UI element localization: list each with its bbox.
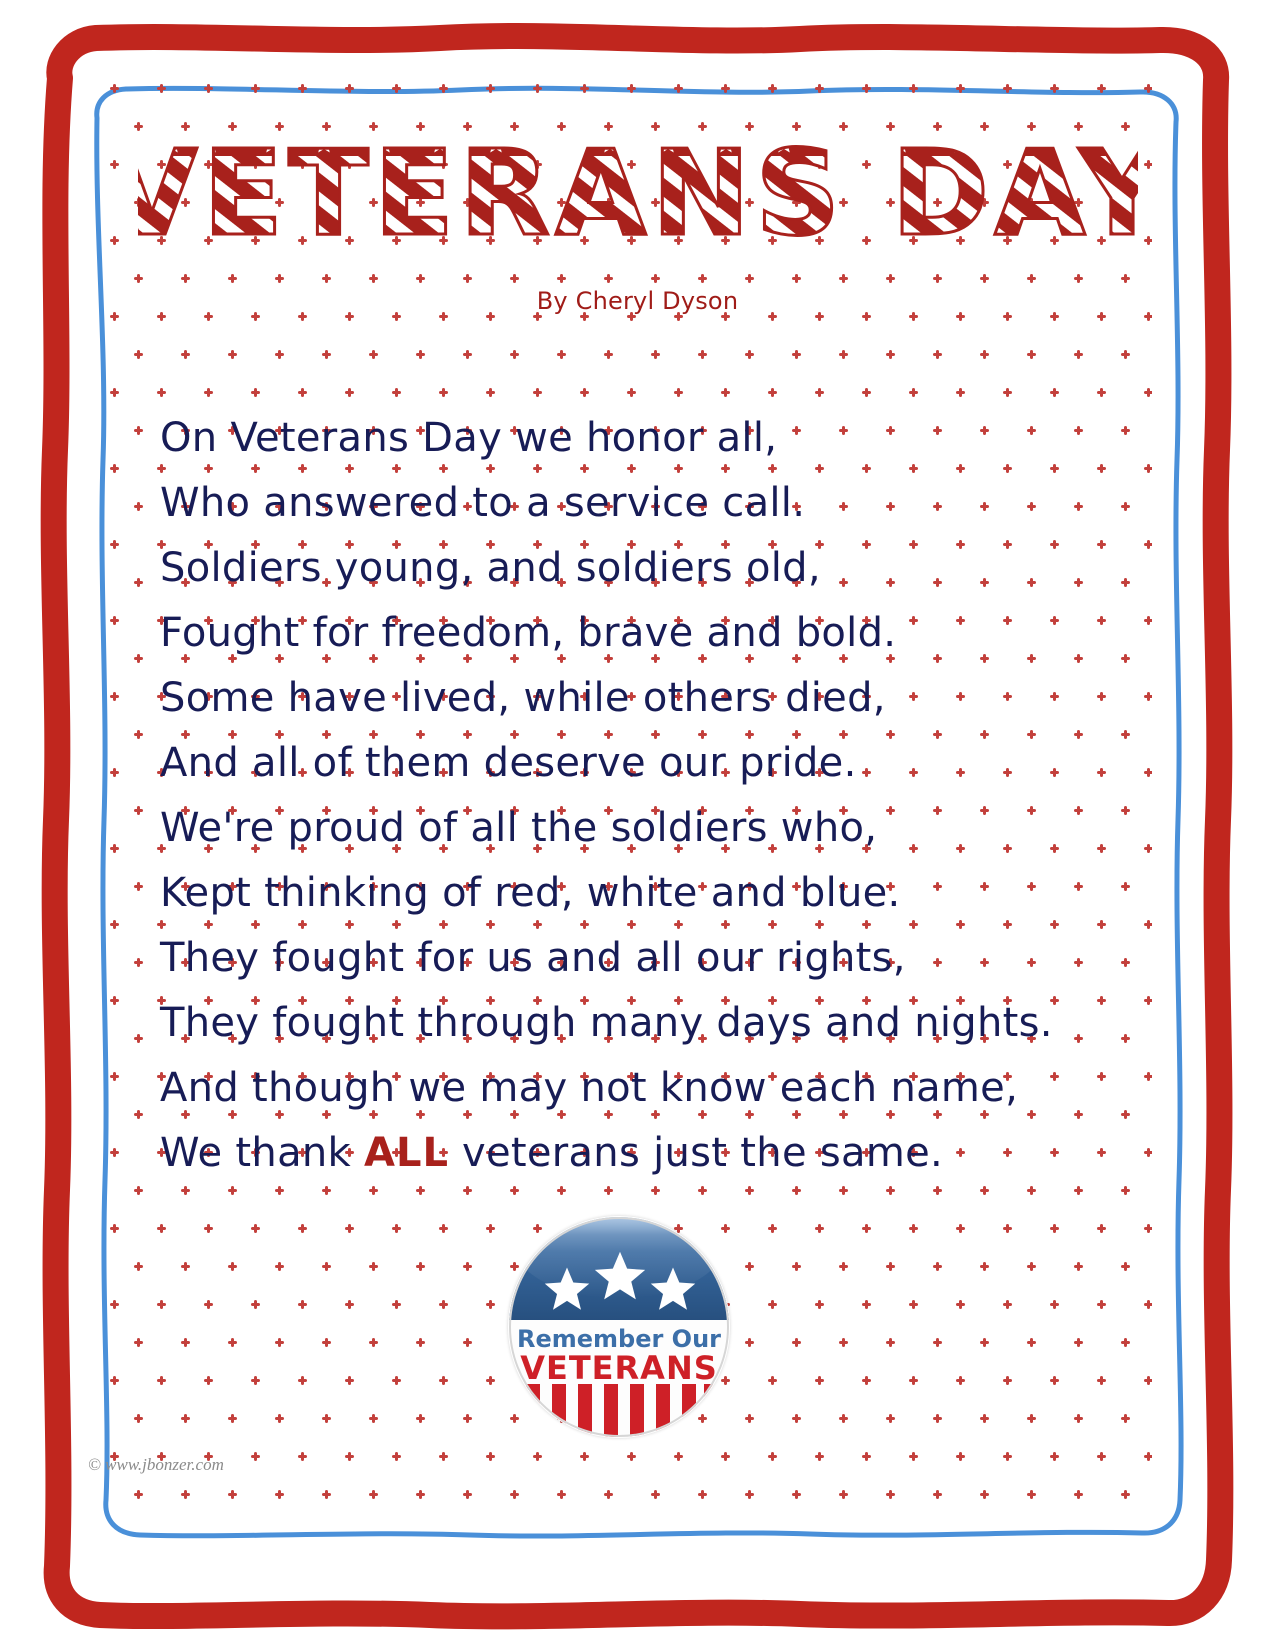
veterans-day-poster: VETERANS DAY	[0, 0, 1275, 1651]
byline: By Cheryl Dyson	[0, 287, 1275, 315]
badge-main-text: VETERANS	[520, 1349, 718, 1387]
title-text: VETERANS DAY	[138, 130, 1138, 260]
poster-content: VETERANS DAY	[0, 0, 1275, 1651]
final-line-after: veterans just the same.	[449, 1130, 943, 1176]
page-title: VETERANS DAY	[0, 130, 1275, 260]
poem-final-line: We thank ALL veterans just the same.	[160, 1121, 1140, 1186]
poem-body: On Veterans Day we honor all, Who answer…	[160, 406, 1140, 1186]
poem-line: Kept thinking of red, white and blue.	[160, 861, 1140, 926]
final-line-emphasis: ALL	[364, 1130, 449, 1176]
poem-line: Who answered to a service call.	[160, 471, 1140, 536]
final-line-before: We thank	[160, 1130, 364, 1176]
poem-line: They fought through many days and nights…	[160, 991, 1140, 1056]
poem-line: Some have lived, while others died,	[160, 666, 1140, 731]
poem-line: And though we may not know each name,	[160, 1056, 1140, 1121]
poem-line: On Veterans Day we honor all,	[160, 406, 1140, 471]
poem-line: They fought for us and all our rights,	[160, 926, 1140, 991]
poem-line: And all of them deserve our pride.	[160, 731, 1140, 796]
remember-our-veterans-badge: Remember Our VETERANS	[508, 1216, 730, 1438]
copyright-notice: © www.jbonzer.com	[88, 1455, 224, 1475]
poem-line: Soldiers young, and soldiers old,	[160, 536, 1140, 601]
poem-line: Fought for freedom, brave and bold.	[160, 601, 1140, 666]
badge-art: Remember Our VETERANS	[508, 1216, 730, 1438]
veterans-day-title-art: VETERANS DAY	[138, 130, 1138, 260]
poem-line: We're proud of all the soldiers who,	[160, 796, 1140, 861]
